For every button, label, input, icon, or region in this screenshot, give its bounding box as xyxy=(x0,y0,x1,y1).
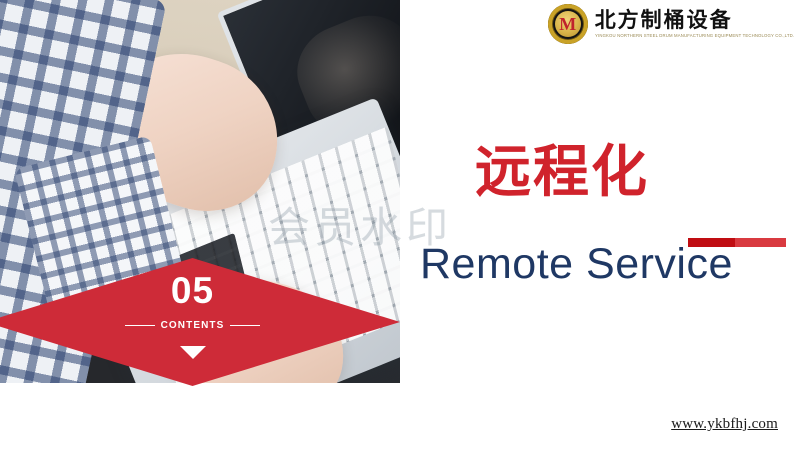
chevron-down-icon xyxy=(180,346,206,359)
contents-rule-right xyxy=(230,325,260,326)
logo-monogram: M xyxy=(559,15,576,33)
contents-row: CONTENTS xyxy=(0,320,400,331)
contents-diamond: 05 CONTENTS xyxy=(0,258,400,386)
slide-title-cn: 远程化 xyxy=(475,144,649,200)
logo-name-cn: 北方制桶设备 xyxy=(595,10,790,33)
logo-name-en: YINGKOU NORTHERN STEEL DRUM MANUFACTURIN… xyxy=(595,33,794,38)
logo-emblem-icon: M xyxy=(548,4,588,44)
section-number: 05 xyxy=(0,272,400,309)
site-url[interactable]: www.ykbfhj.com xyxy=(671,416,778,433)
contents-label: CONTENTS xyxy=(161,320,225,331)
accent-bar-light-segment xyxy=(735,238,786,247)
presentation-slide: 会员水印 05 CONTENTS M 北方制桶设备 YINGKOU NORTHE… xyxy=(0,0,800,450)
contents-rule-left xyxy=(125,325,155,326)
logo-text-block: 北方制桶设备 YINGKOU NORTHERN STEEL DRUM MANUF… xyxy=(595,10,790,39)
logo-emblem-disc: M xyxy=(555,11,581,37)
company-logo: M 北方制桶设备 YINGKOU NORTHERN STEEL DRUM MAN… xyxy=(548,4,790,44)
slide-title-en: Remote Service xyxy=(420,241,733,288)
